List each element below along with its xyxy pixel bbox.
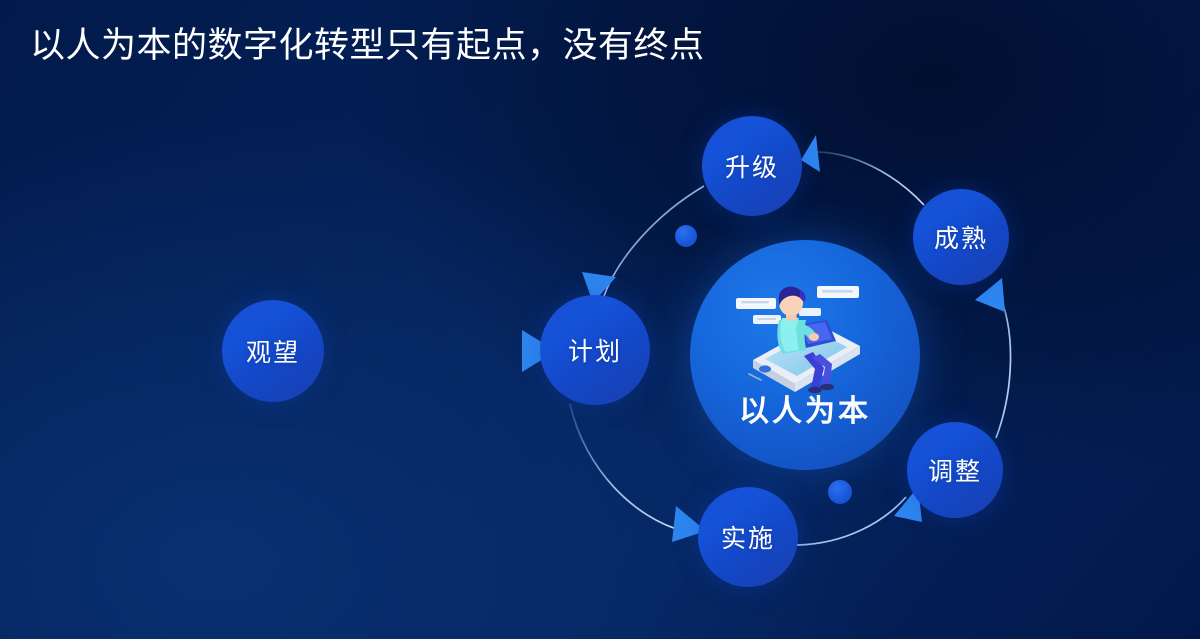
node-upgrade-label: 升级 <box>725 148 779 184</box>
node-implement-label: 实施 <box>721 519 775 555</box>
node-adjust[interactable]: 调整 <box>907 422 1003 518</box>
page-title: 以人为本的数字化转型只有起点，没有终点 <box>30 24 705 69</box>
chat-bubble-icon <box>736 298 776 309</box>
node-adjust-label: 调整 <box>928 452 982 488</box>
connector-implement-to-adjust <box>797 487 922 545</box>
node-upgrade[interactable]: 升级 <box>702 116 802 216</box>
connector-mature-to-upgrade <box>801 135 924 205</box>
node-plan-label: 计划 <box>568 332 622 368</box>
connector-adjust-to-mature <box>975 278 1011 438</box>
node-mature[interactable]: 成熟 <box>913 189 1009 285</box>
decorative-dot <box>675 225 697 247</box>
decorative-dot <box>828 480 852 504</box>
node-plan[interactable]: 计划 <box>540 295 650 405</box>
hub-label: 以人为本 <box>690 386 920 430</box>
node-implement[interactable]: 实施 <box>698 487 798 587</box>
slide-canvas: 以人为本的数字化转型只有起点，没有终点 <box>0 0 1200 639</box>
arrowhead-to-mature <box>975 278 1005 312</box>
node-observe[interactable]: 观望 <box>222 300 324 402</box>
arrowhead-to-upgrade <box>801 135 820 172</box>
node-mature-label: 成熟 <box>934 219 988 255</box>
node-observe-label: 观望 <box>246 333 300 369</box>
hub-illustration <box>720 268 890 403</box>
connector-observe-to-plan <box>326 330 556 372</box>
connector-plan-to-implement <box>570 404 706 542</box>
hub-human-centric[interactable]: 以人为本 <box>690 240 920 470</box>
